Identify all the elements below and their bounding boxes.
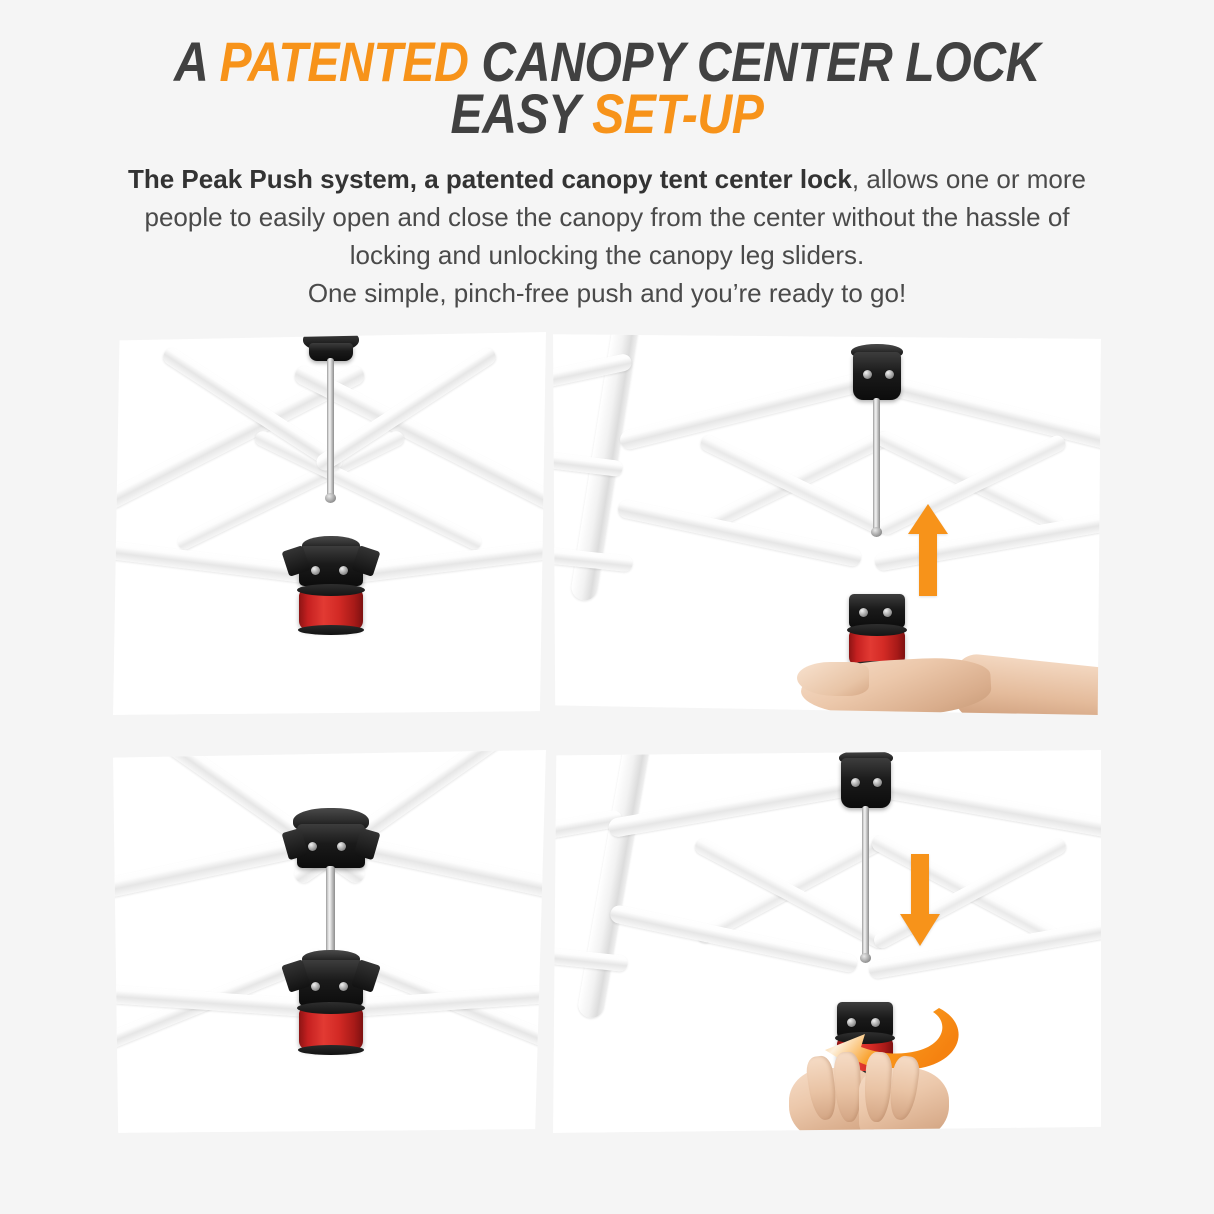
upper-hub-bolt-left bbox=[863, 370, 872, 379]
pole-background-leg bbox=[576, 750, 655, 1020]
headline-highlight-setup: SET-UP bbox=[592, 82, 763, 145]
red-lock-top-rim bbox=[297, 584, 365, 596]
headline-line-1: A PATENTED CANOPY CENTER LOCK bbox=[85, 36, 1129, 88]
threaded-rod bbox=[873, 398, 880, 532]
panel-2-push-up-to-open bbox=[553, 332, 1101, 715]
upper-hub-bolt-right bbox=[873, 778, 882, 787]
arrow-down-icon bbox=[897, 854, 943, 946]
panel-1-scene bbox=[113, 332, 546, 715]
pole-top-left-rafter bbox=[607, 776, 857, 838]
lower-hub-bolt-right bbox=[883, 608, 892, 617]
panel-2-scene bbox=[553, 332, 1101, 715]
threaded-rod bbox=[327, 358, 334, 498]
upper-hub-bolt-left bbox=[308, 842, 317, 851]
photo-grid bbox=[0, 332, 1214, 1132]
headline-highlight-patented: PATENTED bbox=[219, 30, 468, 93]
red-lock-top-rim bbox=[847, 624, 906, 636]
panel-3-canopy-frame-locked-position bbox=[113, 750, 546, 1133]
body-line-3: locking and unlocking the canopy leg sli… bbox=[80, 236, 1134, 274]
threaded-rod-short bbox=[326, 866, 335, 956]
panel-4-scene bbox=[553, 750, 1101, 1133]
upper-hub-bolt-right bbox=[337, 842, 346, 851]
red-lock-top-rim bbox=[297, 1002, 365, 1014]
lower-hub-bolt-right bbox=[339, 982, 348, 991]
body-copy: The Peak Push system, a patented canopy … bbox=[80, 160, 1134, 312]
pole-top-right-rafter bbox=[865, 776, 1101, 838]
upper-hub bbox=[853, 352, 901, 400]
panel-4-twist-and-pull-down-to-close bbox=[553, 750, 1101, 1133]
hub-bolt-right bbox=[339, 566, 348, 575]
red-center-lock bbox=[299, 1008, 363, 1050]
lower-hub-body bbox=[849, 594, 905, 628]
upper-hub-bolt-right bbox=[885, 370, 894, 379]
body-lead-bold: The Peak Push system, a patented canopy … bbox=[128, 164, 852, 194]
lower-hub-bolt-left bbox=[859, 608, 868, 617]
headline-block: A PATENTED CANOPY CENTER LOCK EASY SET-U… bbox=[0, 36, 1214, 140]
panel-3-scene bbox=[113, 750, 546, 1133]
threaded-rod bbox=[862, 806, 869, 958]
upper-hub-bolt-left bbox=[851, 778, 860, 787]
lower-hub-bolt-left bbox=[311, 982, 320, 991]
body-line-4: One simple, pinch-free push and you’re r… bbox=[80, 274, 1134, 312]
pole-top-left-rafter bbox=[618, 372, 865, 451]
headline-prefix: A bbox=[174, 30, 220, 93]
red-center-lock bbox=[299, 590, 363, 630]
panel-1-canopy-frame-open-position bbox=[113, 332, 546, 715]
upper-hub bbox=[841, 758, 891, 808]
headline-line-2: EASY SET-UP bbox=[85, 88, 1129, 140]
pole-top-right-rafter bbox=[871, 372, 1101, 451]
body-line-1: The Peak Push system, a patented canopy … bbox=[80, 160, 1134, 198]
arrow-up-icon bbox=[905, 504, 951, 596]
hub-bolt-left bbox=[311, 566, 320, 575]
body-line-2: people to easily open and close the cano… bbox=[80, 198, 1134, 236]
body-lead-rest: , allows one or more bbox=[852, 164, 1086, 194]
headline-easy: EASY bbox=[451, 82, 593, 145]
infographic-page: A PATENTED CANOPY CENTER LOCK EASY SET-U… bbox=[0, 0, 1214, 1214]
